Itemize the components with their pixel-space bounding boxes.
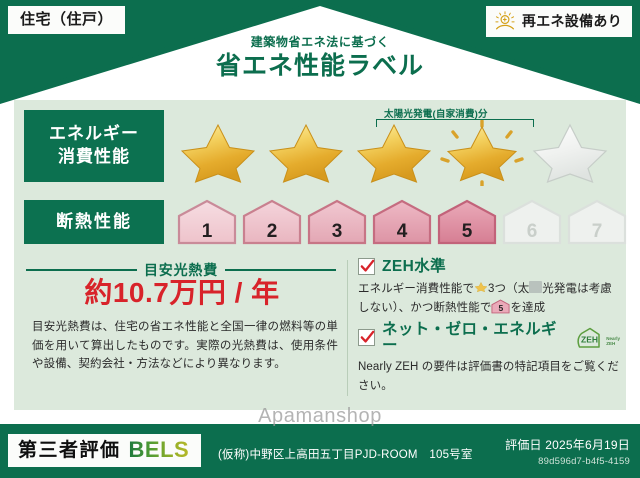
ratings-panel: エネルギー 消費性能 太陽光発電(自家消費)分 xyxy=(14,100,626,410)
evaluation-date: 評価日 2025年6月19日 xyxy=(505,436,630,453)
title-subtitle: 建築物省エネ法に基づく xyxy=(0,36,640,49)
zeh-logo: ZEH Nearly ZEH xyxy=(575,327,620,349)
bels-certification-logo: 第三者評価 BELS xyxy=(8,434,201,467)
evaluation-id: 89d596d7-b4f5-4159 xyxy=(505,456,630,467)
insulation-level-2: 2 xyxy=(241,198,303,246)
title-block: 建築物省エネ法に基づく 省エネ性能ラベル xyxy=(0,36,640,81)
net-zero-body: Nearly ZEH の要件は評価書の特記項目をご覧ください。 xyxy=(358,358,620,395)
energy-label-card: 住宅（住戸） 再エネ設備あり 建築物省エネ法に基づく 省エネ性能ラベル xyxy=(0,0,640,478)
insulation-level-5: 5 xyxy=(436,198,498,246)
star-gold-icon xyxy=(176,120,260,186)
insulation-category-label: 断熱性能 xyxy=(24,200,164,244)
insulation-level-3: 3 xyxy=(306,198,368,246)
zeh-standard-block: ZEH水準 エネルギー消費性能で3つ（太光発電は考慮しない）、かつ断熱性能で5を… xyxy=(358,258,620,317)
star-4 xyxy=(440,120,524,186)
column-divider xyxy=(347,260,348,396)
page-title: 省エネ性能ラベル xyxy=(0,52,640,81)
zeh-standard-title: ZEH水準 xyxy=(382,259,446,275)
zeh-house-icon: ZEH xyxy=(575,327,605,349)
energy-category-line1: エネルギー xyxy=(24,123,164,146)
insulation-level-6-label: 6 xyxy=(501,222,563,241)
energy-category-label: エネルギー 消費性能 xyxy=(24,110,164,182)
footer-bar: 第三者評価 BELS (仮称)中野区上高田五丁目PJD-ROOM 105号室 評… xyxy=(0,426,640,478)
insulation-level-7: 7 xyxy=(566,198,628,246)
zeh-standard-text-2: 3つ（太 xyxy=(488,283,529,295)
insulation-level-4-label: 4 xyxy=(371,222,433,241)
renewable-energy-badge: 再エネ設備あり xyxy=(486,6,632,37)
insulation-level-scale: 1 2 xyxy=(176,198,628,246)
insulation-level-1-label: 1 xyxy=(176,222,238,241)
zeh-logo-subtext: Nearly ZEH xyxy=(606,337,620,348)
redacted-character xyxy=(529,281,542,293)
utility-cost-value: 約10.7万円 / 年 xyxy=(26,278,338,309)
zeh-logo-sub-line2: ZEH xyxy=(606,341,615,346)
star-gold-sparkle-icon xyxy=(440,120,524,186)
insulation-performance-row: 断熱性能 1 xyxy=(14,196,626,254)
insulation-level-4: 4 xyxy=(371,198,433,246)
zeh-standard-text-4: を達成 xyxy=(510,302,545,314)
energy-category-line2: 消費性能 xyxy=(24,146,164,169)
zeh-standard-header: ZEH水準 xyxy=(358,258,620,275)
star-5-empty xyxy=(528,120,612,186)
utility-cost-note: 目安光熱費は、住宅の省エネ性能と全国一律の燃料等の単価を用いて算出したものです。… xyxy=(32,318,338,374)
building-type-label: 住宅（住戸） xyxy=(20,11,113,28)
property-address: (仮称)中野区上高田五丁目PJD-ROOM 105号室 xyxy=(218,446,473,462)
insulation-level-3-label: 3 xyxy=(306,222,368,241)
divider-left xyxy=(26,269,137,271)
bels-jp-label: 第三者評価 xyxy=(18,441,121,460)
energy-star-rating xyxy=(176,120,612,186)
check-icon xyxy=(360,330,375,345)
insulation-category-text: 断熱性能 xyxy=(24,212,164,232)
insulation-level-6: 6 xyxy=(501,198,563,246)
solar-portion-note: 太陽光発電(自家消費)分 xyxy=(384,106,488,120)
building-type-tag: 住宅（住戸） xyxy=(8,6,125,34)
inline-star-icon xyxy=(474,280,488,294)
star-3 xyxy=(352,120,436,186)
energy-performance-row: エネルギー 消費性能 太陽光発電(自家消費)分 xyxy=(14,102,626,190)
energy-stars-area: 太陽光発電(自家消費)分 xyxy=(176,106,616,188)
svg-text:ZEH: ZEH xyxy=(581,334,598,344)
check-icon xyxy=(360,259,375,274)
zeh-standard-body: エネルギー消費性能で3つ（太光発電は考慮しない）、かつ断熱性能で5を達成 xyxy=(358,280,620,317)
bels-en-label: BELS xyxy=(129,439,190,461)
inline-level-label: 5 xyxy=(491,304,510,313)
checkbox-checked xyxy=(358,258,375,275)
insulation-level-1: 1 xyxy=(176,198,238,246)
insulation-level-7-label: 7 xyxy=(566,222,628,241)
zeh-standard-text-1: エネルギー消費性能で xyxy=(358,283,474,295)
renewable-energy-label: 再エネ設備あり xyxy=(522,14,622,28)
net-zero-header: ネット・ゼロ・エネルギー ZEH Nearly ZEH xyxy=(358,322,620,353)
star-2 xyxy=(264,120,348,186)
evaluation-info: 評価日 2025年6月19日 89d596d7-b4f5-4159 xyxy=(505,436,630,467)
star-1 xyxy=(176,120,260,186)
star-gold-icon xyxy=(352,120,436,186)
star-gold-icon xyxy=(264,120,348,186)
inline-insulation-level-badge: 5 xyxy=(491,299,510,314)
insulation-level-5-label: 5 xyxy=(436,222,498,241)
checkbox-checked xyxy=(358,329,375,346)
sun-icon xyxy=(494,11,516,31)
star-empty-icon xyxy=(528,120,612,186)
net-zero-energy-block: ネット・ゼロ・エネルギー ZEH Nearly ZEH Nearly ZEH の… xyxy=(358,322,620,395)
net-zero-title: ネット・ゼロ・エネルギー xyxy=(382,322,566,353)
insulation-level-2-label: 2 xyxy=(241,222,303,241)
divider-right xyxy=(225,269,336,271)
